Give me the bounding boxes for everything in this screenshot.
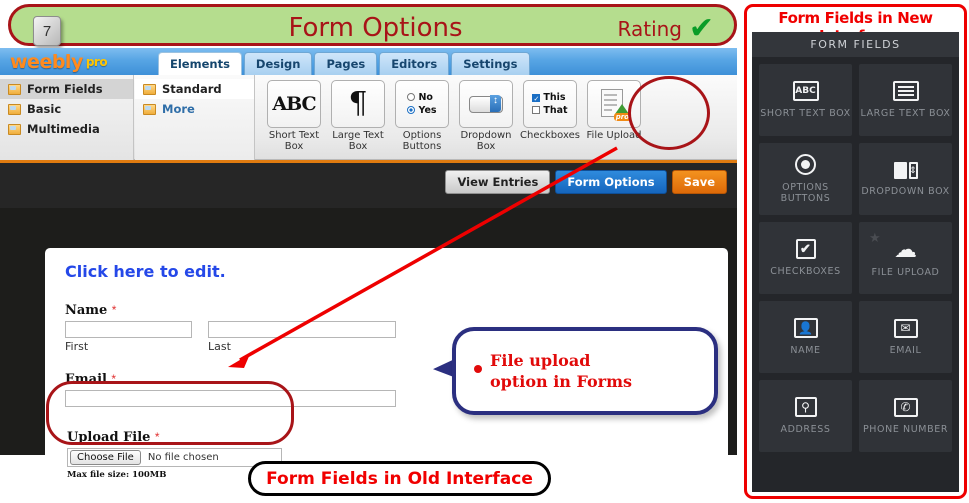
checkbox-label-this: This (543, 92, 565, 103)
lines-icon (893, 81, 919, 101)
main-tabs: Elements Design Pages Editors Settings (158, 52, 530, 75)
element-label: Checkboxes (519, 130, 581, 141)
old-interface-label: Form Fields in Old Interface (266, 469, 533, 489)
callout-line-1: File upload (490, 350, 632, 371)
subcategory-label: More (162, 102, 195, 116)
subcategory-item-standard[interactable]: Standard (135, 79, 254, 99)
radio-on-icon (407, 106, 415, 114)
category-item-form-fields[interactable]: Form Fields (0, 79, 133, 99)
category-item-basic[interactable]: Basic (0, 99, 133, 119)
field-label-name: Name (65, 303, 107, 318)
editor-action-bar: View Entries Form Options Save (0, 163, 737, 208)
field-tile-email[interactable]: ✉ EMAIL (859, 301, 952, 373)
tile-label: NAME (790, 345, 820, 356)
element-icon-box: ✓This That (523, 80, 577, 128)
tile-label: LARGE TEXT BOX (860, 108, 950, 119)
category-label: Form Fields (27, 82, 103, 96)
name-last-input[interactable] (208, 321, 396, 338)
choose-file-button[interactable]: Choose File (70, 450, 141, 465)
old-interface-caption: Form Fields in Old Interface (248, 461, 551, 496)
weebly-logo: weeblypro (10, 51, 107, 73)
radio-off-icon (407, 93, 415, 101)
logo-suffix: pro (86, 55, 107, 69)
tile-label: PHONE NUMBER (863, 424, 948, 435)
category-label: Basic (27, 102, 61, 116)
radio-label-yes: Yes (418, 105, 436, 116)
person-icon: 👤 (794, 318, 818, 338)
element-label: Options Buttons (391, 130, 453, 152)
folder-icon (8, 124, 21, 135)
tab-pages[interactable]: Pages (314, 52, 377, 75)
element-label: Large Text Box (327, 130, 389, 152)
phone-icon: ✆ (894, 398, 918, 417)
checkbox-icon: ✔ (796, 239, 816, 259)
folder-icon (8, 104, 21, 115)
click-here-to-edit-text[interactable]: Click here to edit. (65, 262, 226, 281)
form-options-button[interactable]: Form Options (555, 170, 666, 194)
tile-label: ADDRESS (781, 424, 831, 435)
tile-label: OPTIONS BUTTONS (759, 182, 852, 204)
panel-header: FORM FIELDS (752, 32, 959, 57)
field-tile-file-upload[interactable]: ★ ☁ FILE UPLOAD (859, 222, 952, 294)
element-icon-box (459, 80, 513, 128)
tile-label: DROPDOWN BOX (861, 186, 949, 197)
logo-name: weebly (10, 51, 83, 73)
folder-icon (143, 84, 156, 95)
callout-bubble: File upload option in Forms (452, 327, 718, 415)
element-icon-box: ABC (267, 80, 321, 128)
pro-star-icon: ★ (869, 230, 881, 246)
step-number-badge: 7 (33, 16, 61, 46)
elements-panel: Form Fields Basic Multimedia Standard Mo… (0, 75, 737, 160)
field-tile-large-text-box[interactable]: LARGE TEXT BOX (859, 64, 952, 136)
view-entries-button[interactable]: View Entries (445, 170, 550, 194)
envelope-icon: ✉ (894, 319, 918, 338)
file-status-text: No file chosen (148, 452, 219, 463)
field-tile-checkboxes[interactable]: ✔ CHECKBOXES (759, 222, 852, 294)
checkbox-unchecked-icon (532, 106, 540, 114)
tab-design[interactable]: Design (244, 52, 313, 75)
name-first-input[interactable] (65, 321, 192, 338)
check-mark-icon: ✔ (689, 11, 714, 47)
callout-line-2: option in Forms (490, 371, 632, 392)
rating-label: Rating (618, 17, 682, 41)
name-first-sublabel: First (65, 340, 88, 353)
subcategory-label: Standard (162, 82, 222, 96)
abc-icon: ABC (793, 81, 819, 101)
field-tile-options-buttons[interactable]: OPTIONS BUTTONS (759, 143, 852, 215)
element-label: Dropdown Box (455, 130, 517, 152)
category-label: Multimedia (27, 122, 100, 136)
dropdown-icon (469, 96, 503, 113)
element-checkboxes[interactable]: ✓This That Checkboxes (519, 80, 581, 160)
bullet-icon (474, 365, 482, 373)
field-tile-address[interactable]: ⚲ ADDRESS (759, 380, 852, 452)
element-short-text-box[interactable]: ABC Short Text Box (263, 80, 325, 160)
highlight-oval-file-upload-element (628, 76, 710, 150)
checkbox-label-that: That (543, 105, 567, 116)
category-item-multimedia[interactable]: Multimedia (0, 119, 133, 139)
field-tile-name[interactable]: 👤 NAME (759, 301, 852, 373)
field-tile-dropdown-box[interactable]: ⇕ DROPDOWN BOX (859, 143, 952, 215)
tab-editors[interactable]: Editors (379, 52, 449, 75)
folder-icon (143, 104, 156, 115)
file-upload-icon: pro (601, 89, 627, 119)
pilcrow-icon: ¶ (348, 89, 367, 119)
callout-text: File upload option in Forms (490, 350, 632, 392)
form-fields-grid: ABC SHORT TEXT BOX LARGE TEXT BOX OPTION… (752, 57, 959, 459)
step-banner: Form Options 7 Rating ✔ (8, 4, 737, 46)
tile-label: FILE UPLOAD (872, 267, 940, 278)
name-last-sublabel: Last (208, 340, 231, 353)
field-tile-short-text-box[interactable]: ABC SHORT TEXT BOX (759, 64, 852, 136)
tile-label: CHECKBOXES (770, 266, 840, 277)
tab-elements[interactable]: Elements (158, 52, 242, 75)
subcategory-item-more[interactable]: More (135, 99, 254, 119)
radio-buttons-icon: No Yes (407, 91, 436, 117)
radio-label-no: No (418, 92, 432, 103)
checkbox-checked-icon: ✓ (532, 94, 540, 102)
category-list: Form Fields Basic Multimedia (0, 75, 134, 160)
form-fields-panel: FORM FIELDS ABC SHORT TEXT BOX LARGE TEX… (752, 32, 959, 492)
folder-icon (8, 84, 21, 95)
save-button[interactable]: Save (672, 170, 727, 194)
element-dropdown-box[interactable]: Dropdown Box (455, 80, 517, 160)
field-tile-phone-number[interactable]: ✆ PHONE NUMBER (859, 380, 952, 452)
subcategory-list: Standard More (135, 75, 255, 160)
tile-label: EMAIL (890, 345, 922, 356)
element-label: Short Text Box (263, 130, 325, 152)
app-topbar: weeblypro Elements Design Pages Editors … (0, 48, 737, 75)
new-interface-annotation-box: Form Fields in New Interface FORM FIELDS… (744, 4, 967, 499)
checkbox-icon: ✓This That (532, 91, 567, 117)
dropdown-icon: ⇕ (894, 162, 918, 179)
element-options-buttons[interactable]: No Yes Options Buttons (391, 80, 453, 160)
form-actions: View Entries Form Options Save (445, 170, 727, 194)
radio-ring-icon (795, 154, 816, 175)
max-file-size-note: Max file size: 100MB (67, 470, 166, 480)
element-large-text-box[interactable]: ¶ Large Text Box (327, 80, 389, 160)
cloud-upload-icon: ☁ (894, 238, 917, 260)
map-pin-icon: ⚲ (795, 397, 817, 417)
element-icon-box: No Yes (395, 80, 449, 128)
element-icon-box: ¶ (331, 80, 385, 128)
required-marker: * (112, 303, 117, 317)
tab-settings[interactable]: Settings (451, 52, 529, 75)
highlight-oval-upload-file-field (46, 381, 294, 445)
file-upload-input[interactable]: Choose File No file chosen (67, 448, 282, 467)
tile-label: SHORT TEXT BOX (760, 108, 850, 119)
abc-icon: ABC (272, 93, 315, 115)
